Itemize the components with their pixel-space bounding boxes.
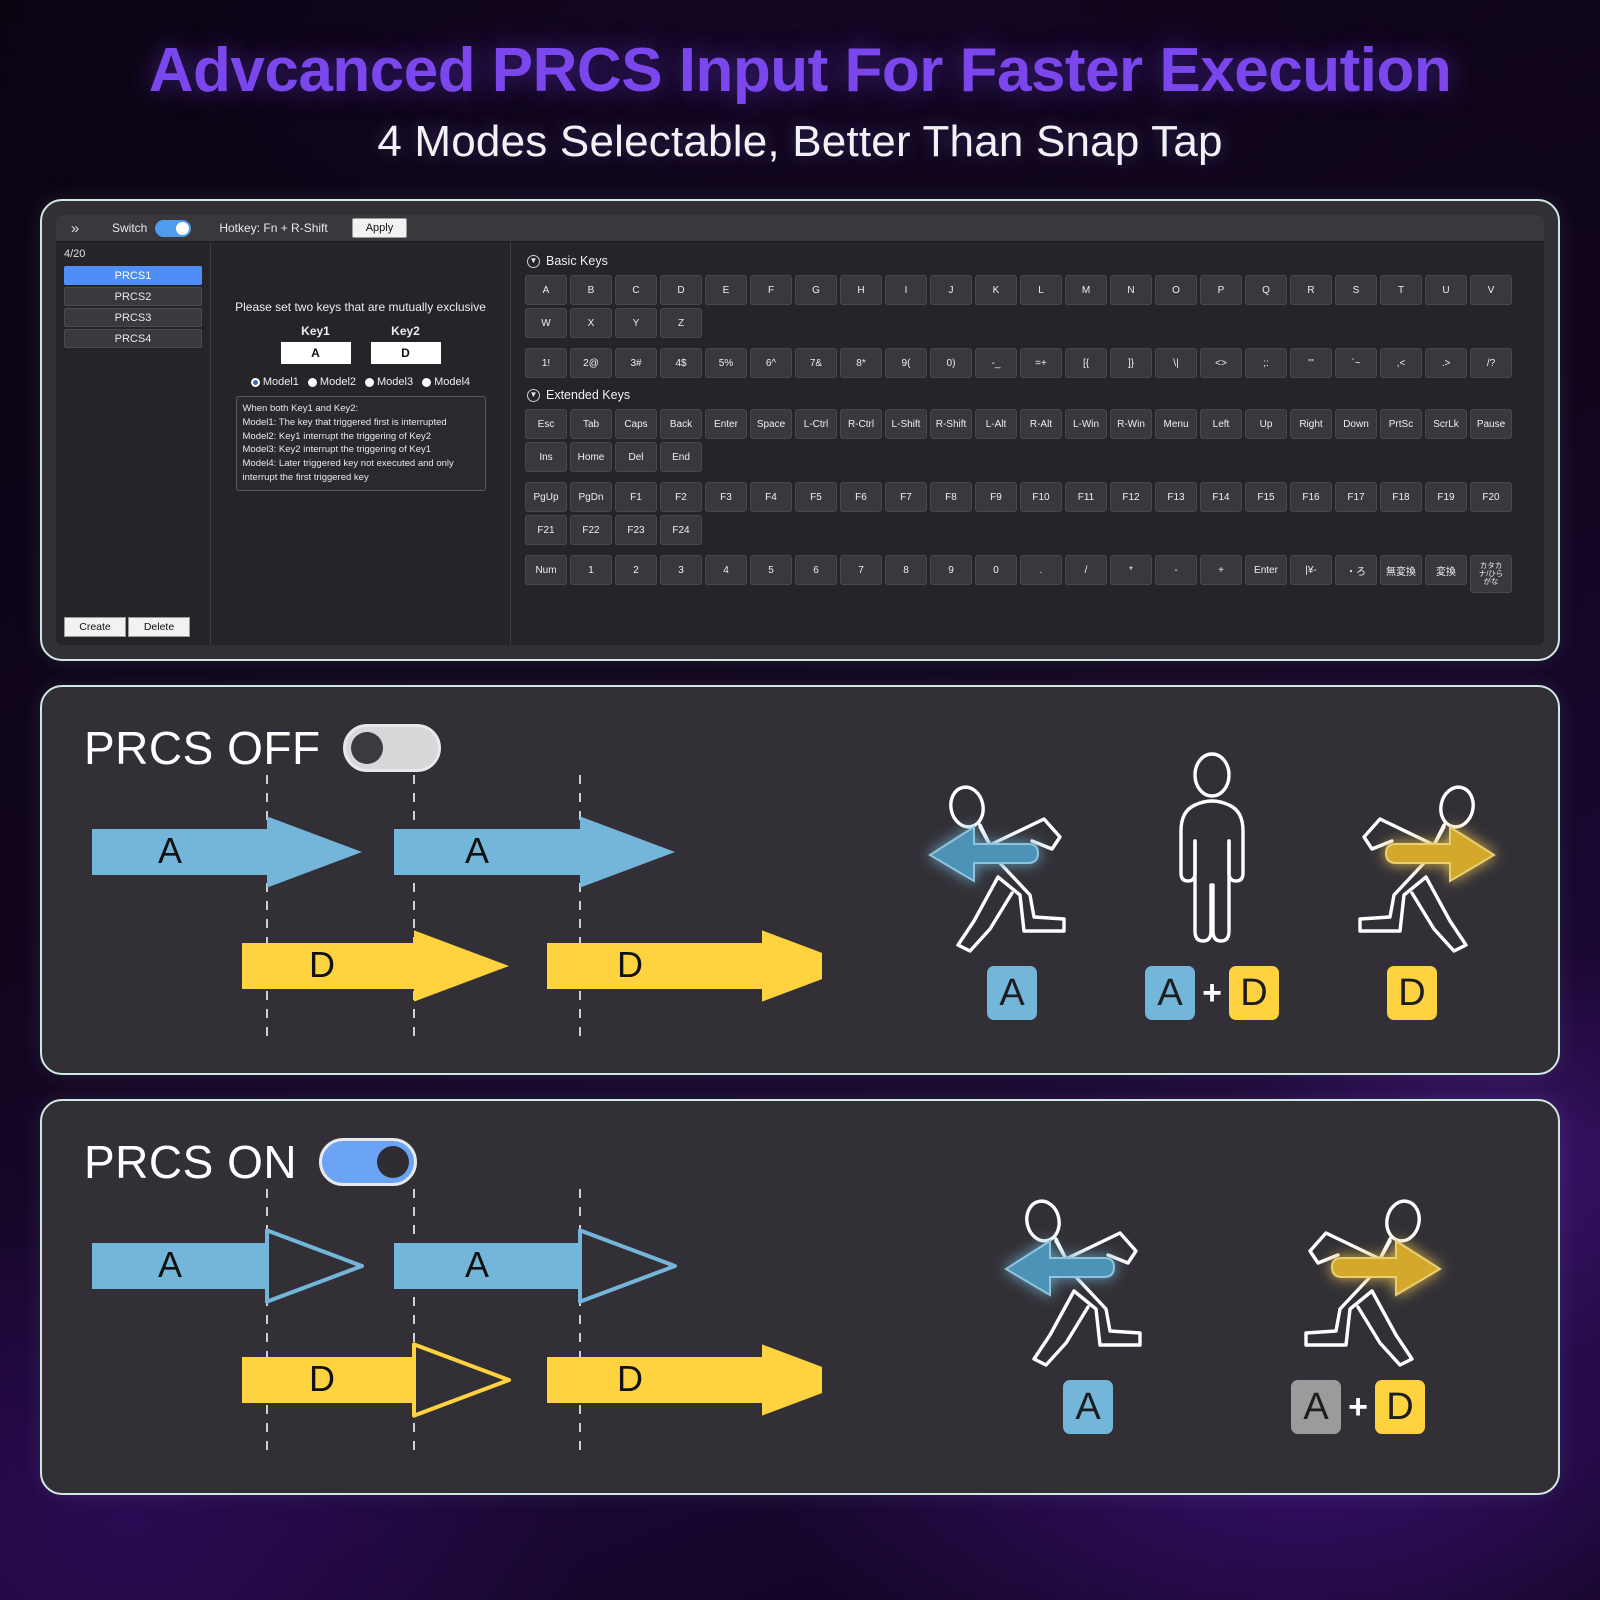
basic-keys-header[interactable]: ▼ Basic Keys	[527, 254, 1534, 268]
profile-actions: Create Delete	[56, 617, 210, 645]
profile-list: PRCS1PRCS2PRCS3PRCS4	[56, 266, 210, 348]
timeline-label: A	[465, 1244, 489, 1285]
key1-input[interactable]: A	[281, 342, 351, 364]
key2-label: Key2	[391, 324, 420, 338]
description-line: Model4: Later triggered key not executed…	[243, 457, 479, 485]
keyboard-key[interactable]: F	[750, 275, 792, 305]
keyboard-key[interactable]: ]}	[1110, 348, 1152, 378]
timeline-arrow: D	[242, 930, 509, 1001]
page-title: Advcanced PRCS Input For Faster Executio…	[0, 38, 1600, 103]
keyboard-key[interactable]: J	[930, 275, 972, 305]
keyboard-key[interactable]: B	[570, 275, 612, 305]
extended-keys-row-3: Num1234567890./*-+Enter|¥-・ろ無変換変換カタカナ/ひら…	[525, 555, 1534, 593]
plus-symbol: +	[1202, 974, 1222, 1013]
keyboard-key[interactable]: L-Alt	[975, 409, 1017, 439]
keyboard-key[interactable]: 4	[705, 555, 747, 585]
basic-keys-title: Basic Keys	[546, 254, 608, 268]
chevron-down-icon[interactable]: ▼	[527, 255, 540, 268]
keyboard-key[interactable]: F10	[1020, 482, 1062, 512]
keyboard-key[interactable]: G	[795, 275, 837, 305]
timeline-arrow: A	[394, 1230, 675, 1301]
keyboard-key[interactable]: 変換	[1425, 555, 1467, 585]
keyboard-key[interactable]: Down	[1335, 409, 1377, 439]
keyboard-key[interactable]: ScrLk	[1425, 409, 1467, 439]
keyboard-key[interactable]: F18	[1380, 482, 1422, 512]
description-line: When both Key1 and Key2:	[243, 402, 479, 416]
keyboard-key[interactable]: Num	[525, 555, 567, 585]
hotkey-label: Hotkey: Fn + R-Shift	[219, 221, 327, 235]
mode-description: When both Key1 and Key2:Model1: The key …	[236, 396, 486, 491]
keyboard-key[interactable]: R	[1290, 275, 1332, 305]
keyboard-column: ▼ Basic Keys ABCDEFGHIJKLMNOPQRSTUVWXYZ …	[511, 242, 1544, 645]
keyboard-key[interactable]: O	[1155, 275, 1197, 305]
figure-cell: A+D	[1112, 745, 1312, 1020]
running-left-figure-icon	[912, 745, 1112, 960]
keyboard-key[interactable]: 2	[615, 555, 657, 585]
description-line: Model1: The key that triggered first is …	[243, 416, 479, 430]
keyboard-key[interactable]: |¥-	[1290, 555, 1332, 585]
keyboard-key[interactable]: Q	[1245, 275, 1287, 305]
keyboard-key[interactable]: R-Shift	[930, 409, 972, 439]
keyboard-key[interactable]: H	[840, 275, 882, 305]
keyboard-key[interactable]: .>	[1425, 348, 1467, 378]
expand-icon[interactable]: »	[62, 220, 88, 237]
extended-keys-header[interactable]: ▼ Extended Keys	[527, 388, 1534, 402]
keyboard-key[interactable]: 6	[795, 555, 837, 585]
keyboard-key[interactable]: .	[1020, 555, 1062, 585]
keyboard-key[interactable]: Menu	[1155, 409, 1197, 439]
keyboard-key[interactable]: -	[1155, 555, 1197, 585]
timeline-arrow: D	[547, 930, 822, 1001]
switch-toggle[interactable]	[155, 220, 191, 237]
keyboard-key[interactable]: Pause	[1470, 409, 1512, 439]
keyboard-key[interactable]: -_	[975, 348, 1017, 378]
keyboard-key[interactable]: F9	[975, 482, 1017, 512]
timeline-arrow: A	[92, 816, 362, 887]
keyboard-key[interactable]: Space	[750, 409, 792, 439]
keyboard-key[interactable]: F1	[615, 482, 657, 512]
keyboard-key[interactable]: F15	[1245, 482, 1287, 512]
key2-group: Key2 D	[371, 324, 441, 364]
page-header: Advcanced PRCS Input For Faster Executio…	[0, 0, 1600, 167]
keyboard-key[interactable]: F4	[750, 482, 792, 512]
keyboard-key[interactable]: End	[660, 442, 702, 472]
mode-radio-group: Model1Model2Model3Model4	[251, 376, 470, 388]
keyboard-key[interactable]: E	[705, 275, 747, 305]
keyboard-key[interactable]: 3#	[615, 348, 657, 378]
keyboard-key[interactable]: P	[1200, 275, 1242, 305]
keyboard-key[interactable]: Back	[660, 409, 702, 439]
page-subtitle: 4 Modes Selectable, Better Than Snap Tap	[0, 117, 1600, 167]
keyboard-key[interactable]: 2@	[570, 348, 612, 378]
keyboard-key[interactable]: 3	[660, 555, 702, 585]
key-inputs: Key1 A Key2 D	[281, 324, 441, 364]
profile-item-prcs2[interactable]: PRCS2	[64, 287, 202, 306]
radio-icon[interactable]	[422, 378, 431, 387]
timeline-arrow: D	[242, 1344, 509, 1415]
keyboard-key[interactable]: F5	[795, 482, 837, 512]
prcs-off-toggle[interactable]	[343, 724, 441, 772]
keyboard-key[interactable]: F14	[1200, 482, 1242, 512]
prcs-on-toggle[interactable]	[319, 1138, 417, 1186]
timeline-label: A	[465, 830, 489, 871]
keyboard-key[interactable]: Caps	[615, 409, 657, 439]
keyboard-key[interactable]: PgDn	[570, 482, 612, 512]
radio-icon[interactable]	[365, 378, 374, 387]
prcs-off-figures: A A+D	[912, 745, 1512, 1020]
app-body: 4/20 PRCS1PRCS2PRCS3PRCS4 Create Delete …	[56, 242, 1544, 645]
keyboard-key[interactable]: 無変換	[1380, 555, 1422, 585]
keyboard-key[interactable]: Esc	[525, 409, 567, 439]
keyboard-key[interactable]: F13	[1155, 482, 1197, 512]
keyboard-key[interactable]: R-Alt	[1020, 409, 1062, 439]
key-badge-d: D	[1229, 966, 1279, 1020]
standing-figure-icon	[1112, 745, 1312, 960]
keyboard-key[interactable]: F17	[1335, 482, 1377, 512]
figure-cell: A+D	[1258, 1159, 1458, 1434]
keyboard-key[interactable]: F22	[570, 515, 612, 545]
timeline-label: D	[309, 1358, 335, 1399]
key-badge-a: A	[1291, 1380, 1341, 1434]
keyboard-key[interactable]: +	[1200, 555, 1242, 585]
keyboard-key[interactable]: F2	[660, 482, 702, 512]
keyboard-key[interactable]: \|	[1155, 348, 1197, 378]
keyboard-key[interactable]: Tab	[570, 409, 612, 439]
prcs-off-body: AADD A	[42, 775, 1558, 1045]
keyboard-key[interactable]: PgUp	[525, 482, 567, 512]
keyboard-key[interactable]: /	[1065, 555, 1107, 585]
keyboard-key[interactable]: L	[1020, 275, 1062, 305]
figure-cell: D	[1312, 745, 1512, 1020]
keyboard-key[interactable]: 9	[930, 555, 972, 585]
profile-sidebar: 4/20 PRCS1PRCS2PRCS3PRCS4 Create Delete	[56, 242, 211, 645]
keyboard-key[interactable]: R-Win	[1110, 409, 1152, 439]
timeline-label: A	[158, 830, 182, 871]
figure-cell: A	[912, 745, 1112, 1020]
prcs-off-title: PRCS OFF	[84, 721, 321, 775]
key-badge-d: D	[1387, 966, 1437, 1020]
keyboard-key[interactable]: 9(	[885, 348, 927, 378]
keyboard-key[interactable]: R-Ctrl	[840, 409, 882, 439]
key1-group: Key1 A	[281, 324, 351, 364]
keyboard-key[interactable]: S	[1335, 275, 1377, 305]
basic-keys-row-letters: ABCDEFGHIJKLMNOPQRSTUVWXYZ	[525, 275, 1534, 338]
keyboard-key[interactable]: F7	[885, 482, 927, 512]
keyboard-key[interactable]: 1	[570, 555, 612, 585]
keyboard-key[interactable]: 4$	[660, 348, 702, 378]
key2-input[interactable]: D	[371, 342, 441, 364]
prcs-on-title: PRCS ON	[84, 1135, 297, 1189]
keyboard-key[interactable]: [{	[1065, 348, 1107, 378]
timeline-label: D	[617, 1358, 643, 1399]
basic-keys-row-symbols: 1!2@3#4$5%6^7&8*9(0)-_=+[{]}\|<>;:"'`~,<…	[525, 348, 1534, 378]
keyboard-key[interactable]: *	[1110, 555, 1152, 585]
profile-item-prcs4[interactable]: PRCS4	[64, 329, 202, 348]
keyboard-key[interactable]: =+	[1020, 348, 1062, 378]
key-badge-a: A	[987, 966, 1037, 1020]
keyboard-key[interactable]: T	[1380, 275, 1422, 305]
keyboard-key[interactable]: C	[615, 275, 657, 305]
keyboard-key[interactable]: F19	[1425, 482, 1467, 512]
running-right-figure-icon	[1258, 1159, 1458, 1374]
mode-option-model1[interactable]: Model1	[251, 376, 299, 388]
extended-keys-title: Extended Keys	[546, 388, 630, 402]
running-left-figure-icon	[988, 1159, 1188, 1374]
keyboard-key[interactable]: Left	[1200, 409, 1242, 439]
config-hint: Please set two keys that are mutually ex…	[235, 300, 486, 314]
mode-label: Model3	[377, 376, 413, 388]
timeline-label: D	[309, 944, 335, 985]
figure-cell: A	[988, 1159, 1188, 1434]
keyboard-key[interactable]: F24	[660, 515, 702, 545]
badge-group-2: A+D	[1291, 1380, 1425, 1434]
keyboard-key[interactable]: `~	[1335, 348, 1377, 378]
keyboard-key[interactable]: 0	[975, 555, 1017, 585]
keyboard-key[interactable]: F8	[930, 482, 972, 512]
keyboard-key[interactable]: ;:	[1245, 348, 1287, 378]
prcs-on-body: AADD A	[42, 1189, 1558, 1459]
keyboard-key[interactable]: 5	[750, 555, 792, 585]
mode-label: Model2	[320, 376, 356, 388]
keyboard-key[interactable]: <>	[1200, 348, 1242, 378]
keyboard-key[interactable]: 8	[885, 555, 927, 585]
keyboard-key[interactable]: F11	[1065, 482, 1107, 512]
key-badge-d: D	[1375, 1380, 1425, 1434]
keyboard-key[interactable]: Enter	[1245, 555, 1287, 585]
keyboard-key[interactable]: L-Shift	[885, 409, 927, 439]
delete-button[interactable]: Delete	[128, 617, 190, 637]
mode-option-model4[interactable]: Model4	[422, 376, 470, 388]
keyboard-key[interactable]: X	[570, 308, 612, 338]
keyboard-key[interactable]: "'	[1290, 348, 1332, 378]
keyboard-key[interactable]: 8*	[840, 348, 882, 378]
timeline-arrow: D	[547, 1344, 822, 1415]
keyboard-key[interactable]: カタカナ/ひらがな	[1470, 555, 1512, 593]
keyboard-key[interactable]: Home	[570, 442, 612, 472]
keyboard-key[interactable]: Ins	[525, 442, 567, 472]
keyboard-key[interactable]: M	[1065, 275, 1107, 305]
keyboard-key[interactable]: 5%	[705, 348, 747, 378]
mode-label: Model4	[434, 376, 470, 388]
prcs-off-timeline: AADD	[82, 771, 822, 1043]
keyboard-key[interactable]: Y	[615, 308, 657, 338]
keyboard-key[interactable]: L-Win	[1065, 409, 1107, 439]
keyboard-key[interactable]: Z	[660, 308, 702, 338]
prcs-config-app: » Switch Hotkey: Fn + R-Shift Apply 4/20…	[56, 215, 1544, 645]
keyboard-key[interactable]: F3	[705, 482, 747, 512]
switch-label: Switch	[112, 221, 147, 235]
badge-group-3: D	[1387, 966, 1437, 1020]
mode-option-model3[interactable]: Model3	[365, 376, 413, 388]
keyboard-key[interactable]: V	[1470, 275, 1512, 305]
badge-group-1: A	[1063, 1380, 1113, 1434]
keyboard-key[interactable]: U	[1425, 275, 1467, 305]
keyboard-key[interactable]: 0)	[930, 348, 972, 378]
key1-label: Key1	[301, 324, 330, 338]
keyboard-key[interactable]: 1!	[525, 348, 567, 378]
mode-label: Model1	[263, 376, 299, 388]
keyboard-key[interactable]: W	[525, 308, 567, 338]
badge-group-1: A	[987, 966, 1037, 1020]
keyboard-key[interactable]: F23	[615, 515, 657, 545]
keyboard-key[interactable]: Right	[1290, 409, 1332, 439]
prcs-on-figures: A A+D	[988, 1159, 1458, 1434]
key-badge-a: A	[1145, 966, 1195, 1020]
profile-item-prcs3[interactable]: PRCS3	[64, 308, 202, 327]
keyboard-key[interactable]: Up	[1245, 409, 1287, 439]
keyboard-key[interactable]: F6	[840, 482, 882, 512]
keyboard-key[interactable]: Del	[615, 442, 657, 472]
mode-option-model2[interactable]: Model2	[308, 376, 356, 388]
chevron-down-icon[interactable]: ▼	[527, 389, 540, 402]
keyboard-key[interactable]: F21	[525, 515, 567, 545]
key-badge-a: A	[1063, 1380, 1113, 1434]
keyboard-key[interactable]: I	[885, 275, 927, 305]
keyboard-key[interactable]: F16	[1290, 482, 1332, 512]
description-line: Model2: Key1 interrupt the triggering of…	[243, 430, 479, 444]
keyboard-key[interactable]: D	[660, 275, 702, 305]
keyboard-key[interactable]: K	[975, 275, 1017, 305]
extended-keys-row-1: EscTabCapsBackEnterSpaceL-CtrlR-CtrlL-Sh…	[525, 409, 1534, 472]
keyboard-key[interactable]: L-Ctrl	[795, 409, 837, 439]
extended-keys-row-2: PgUpPgDnF1F2F3F4F5F6F7F8F9F10F11F12F13F1…	[525, 482, 1534, 545]
keyboard-key[interactable]: F12	[1110, 482, 1152, 512]
radio-icon[interactable]	[251, 378, 260, 387]
badge-group-2: A+D	[1145, 966, 1279, 1020]
plus-symbol: +	[1348, 1388, 1368, 1427]
keyboard-key[interactable]: Enter	[705, 409, 747, 439]
timeline-arrow: A	[394, 816, 675, 887]
description-line: Model3: Key2 interrupt the triggering of…	[243, 443, 479, 457]
create-button[interactable]: Create	[64, 617, 126, 637]
keyboard-key[interactable]: 7	[840, 555, 882, 585]
prcs-off-panel: PRCS OFF AADD	[40, 685, 1560, 1075]
apply-button[interactable]: Apply	[352, 218, 408, 238]
timeline-label: A	[158, 1244, 182, 1285]
profile-item-prcs1[interactable]: PRCS1	[64, 266, 202, 285]
profile-count: 4/20	[56, 248, 210, 266]
timeline-label: D	[617, 944, 643, 985]
timeline-arrow: A	[92, 1230, 362, 1301]
radio-icon[interactable]	[308, 378, 317, 387]
keyboard-key[interactable]: PrtSc	[1380, 409, 1422, 439]
software-screenshot-panel: » Switch Hotkey: Fn + R-Shift Apply 4/20…	[40, 199, 1560, 661]
keyboard-key[interactable]: /?	[1470, 348, 1512, 378]
keyboard-key[interactable]: 7&	[795, 348, 837, 378]
keyboard-key[interactable]: F20	[1470, 482, 1512, 512]
key-config-column: Please set two keys that are mutually ex…	[211, 242, 511, 645]
prcs-on-timeline: AADD	[82, 1185, 822, 1457]
keyboard-key[interactable]: 6^	[750, 348, 792, 378]
keyboard-key[interactable]: A	[525, 275, 567, 305]
keyboard-key[interactable]: ,<	[1380, 348, 1422, 378]
prcs-on-panel: PRCS ON AADD	[40, 1099, 1560, 1495]
running-right-figure-icon	[1312, 745, 1512, 960]
app-toolbar: » Switch Hotkey: Fn + R-Shift Apply	[56, 215, 1544, 242]
keyboard-key[interactable]: ・ろ	[1335, 555, 1377, 585]
keyboard-key[interactable]: N	[1110, 275, 1152, 305]
